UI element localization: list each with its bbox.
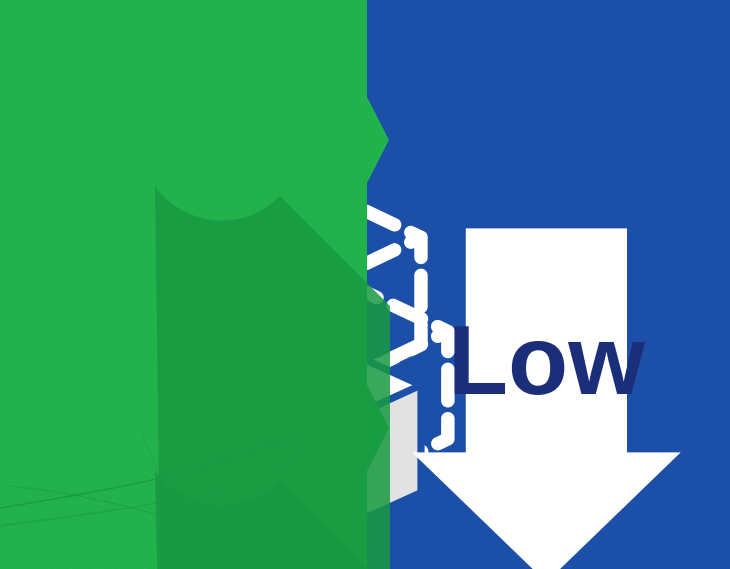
fabric-crease-lines [0, 430, 367, 569]
green-panel-texture [0, 0, 367, 569]
low-arrow-label: Low [448, 305, 645, 415]
green-background-panel [0, 0, 367, 569]
infographic-poster: Low 低糖 每100ml含糖量不大于5g 符合国家标识法规中 声称低糖的要求* [0, 0, 730, 569]
